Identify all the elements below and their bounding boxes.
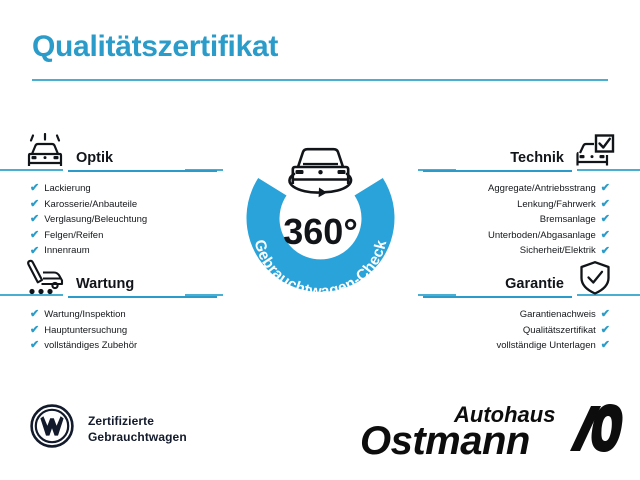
dealer-brand: Autohaus Ostmann <box>358 396 624 464</box>
check-icon: ✔ <box>601 183 610 194</box>
panel-technik-list: ✔Aggregate/Antriebsstrang ✔Lenkung/Fahrw… <box>423 172 618 259</box>
list-item-label: Wartung/Inspektion <box>44 307 126 323</box>
list-item: ✔Wartung/Inspektion <box>22 307 217 323</box>
panel-optik-divider <box>68 170 217 172</box>
list-item: ✔Unterboden/Abgasanlage <box>423 228 618 244</box>
check-icon: ✔ <box>601 199 610 210</box>
list-item: ✔Qualitätszertifikat <box>423 323 618 339</box>
dealer-mark-icon <box>570 404 623 452</box>
panel-garantie-divider <box>423 296 572 298</box>
list-item: ✔Felgen/Reifen <box>22 228 217 244</box>
vw-brand-text: Zertifizierte Gebrauchtwagen <box>88 413 187 445</box>
check-icon: ✔ <box>30 199 39 210</box>
badge-degrees: 360° <box>283 211 357 252</box>
360-check-badge: 360° Gebrauchtwagen-Check <box>233 116 408 311</box>
panel-technik-divider <box>423 170 572 172</box>
wrench-car-icon <box>22 258 68 298</box>
title-divider <box>32 79 608 81</box>
list-item: ✔Hauptuntersuchung <box>22 323 217 339</box>
shield-check-icon <box>572 258 618 298</box>
list-item-label: Lenkung/Fahrwerk <box>517 197 596 213</box>
list-item: ✔Karosserie/Anbauteile <box>22 197 217 213</box>
panel-optik-header: Optik <box>22 132 217 172</box>
panel-technik: Technik ✔Aggregate/Antriebsstrang ✔Lenku… <box>423 132 618 259</box>
vw-line-1: Zertifizierte <box>88 413 187 429</box>
panel-optik-list: ✔Lackierung ✔Karosserie/Anbauteile ✔Verg… <box>22 172 217 259</box>
list-item: ✔vollständige Unterlagen <box>423 338 618 354</box>
panel-wartung-divider <box>68 296 217 298</box>
list-item: ✔Verglasung/Beleuchtung <box>22 212 217 228</box>
check-icon: ✔ <box>30 309 39 320</box>
list-item: ✔Garantienachweis <box>423 307 618 323</box>
panel-garantie-title: Garantie <box>423 277 572 297</box>
page-title: Qualitätszertifikat <box>32 30 608 63</box>
list-item-label: Qualitätszertifikat <box>523 323 596 339</box>
check-icon: ✔ <box>30 214 39 225</box>
list-item-label: Aggregate/Antriebsstrang <box>488 181 596 197</box>
check-icon: ✔ <box>601 325 610 336</box>
panel-garantie-list: ✔Garantienachweis ✔Qualitätszertifikat ✔… <box>423 298 618 354</box>
list-item: ✔Innenraum <box>22 243 217 259</box>
car-rotate-icon <box>289 149 351 197</box>
list-item-label: Sicherheit/Elektrik <box>520 243 596 259</box>
panel-wartung-header: Wartung <box>22 258 217 298</box>
panel-technik-header: Technik <box>423 132 618 172</box>
list-item: ✔Bremsanlage <box>423 212 618 228</box>
list-item-label: Unterboden/Abgasanlage <box>488 228 596 244</box>
list-item: ✔Lenkung/Fahrwerk <box>423 197 618 213</box>
list-item-label: Verglasung/Beleuchtung <box>44 212 147 228</box>
check-icon: ✔ <box>30 325 39 336</box>
list-item-label: vollständige Unterlagen <box>496 338 595 354</box>
list-item: ✔Aggregate/Antriebsstrang <box>423 181 618 197</box>
volkswagen-logo <box>30 404 74 453</box>
list-item-label: Innenraum <box>44 243 89 259</box>
list-item-label: Lackierung <box>44 181 90 197</box>
panel-technik-title: Technik <box>423 151 572 171</box>
list-item-label: Karosserie/Anbauteile <box>44 197 137 213</box>
certificate-page: Qualitätszertifikat <box>0 0 640 480</box>
list-item-label: Hauptuntersuchung <box>44 323 127 339</box>
vw-line-2: Gebrauchtwagen <box>88 429 187 445</box>
dealer-name: Ostmann <box>360 419 530 463</box>
check-icon: ✔ <box>601 214 610 225</box>
title-block: Qualitätszertifikat <box>32 30 608 81</box>
check-icon: ✔ <box>30 230 39 241</box>
list-item-label: Felgen/Reifen <box>44 228 103 244</box>
panel-garantie: Garantie ✔Garantienachweis ✔Qualitätszer… <box>423 258 618 354</box>
panel-optik: Optik ✔Lackierung ✔Karosserie/Anbauteile… <box>22 132 217 259</box>
vw-brand: Zertifizierte Gebrauchtwagen <box>30 404 187 453</box>
panel-wartung-title: Wartung <box>68 277 217 297</box>
list-item: ✔Sicherheit/Elektrik <box>423 243 618 259</box>
list-item: ✔vollständiges Zubehör <box>22 338 217 354</box>
car-checkbox-icon <box>572 132 618 172</box>
panel-garantie-header: Garantie <box>423 258 618 298</box>
panel-optik-title: Optik <box>68 151 217 171</box>
panel-wartung: Wartung ✔Wartung/Inspektion ✔Hauptunters… <box>22 258 217 354</box>
check-icon: ✔ <box>601 246 610 257</box>
check-icon: ✔ <box>601 230 610 241</box>
check-icon: ✔ <box>601 309 610 320</box>
car-shine-icon <box>22 132 68 172</box>
check-icon: ✔ <box>601 340 610 351</box>
check-icon: ✔ <box>30 340 39 351</box>
list-item-label: Bremsanlage <box>540 212 596 228</box>
panel-wartung-list: ✔Wartung/Inspektion ✔Hauptuntersuchung ✔… <box>22 298 217 354</box>
list-item-label: vollständiges Zubehör <box>44 338 137 354</box>
list-item: ✔Lackierung <box>22 181 217 197</box>
list-item-label: Garantienachweis <box>520 307 596 323</box>
check-icon: ✔ <box>30 183 39 194</box>
check-icon: ✔ <box>30 246 39 257</box>
